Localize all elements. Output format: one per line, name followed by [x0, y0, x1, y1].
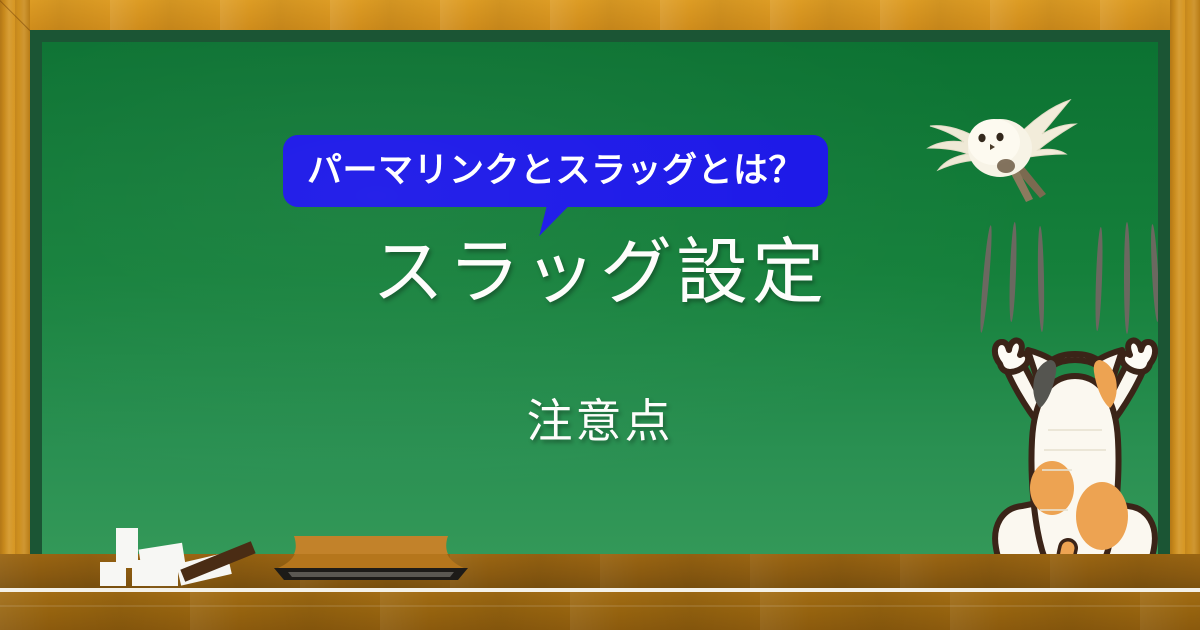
speech-bubble: パーマリンクとスラッグとは？	[283, 135, 828, 207]
cat-orange-patch-right	[1076, 482, 1128, 550]
chalkboard-surface: パーマリンクとスラッグとは？ スラッグ設定 注意点	[42, 42, 1158, 554]
speech-bubble-tail	[539, 206, 568, 236]
flying-white-bird	[920, 80, 1080, 210]
chalk-ledge-front	[0, 592, 1200, 630]
scratch-mark	[1149, 224, 1158, 322]
page-subtitle: 注意点	[84, 398, 1116, 444]
blackboard-eraser	[258, 534, 484, 590]
frame-top-rail	[0, 0, 1200, 30]
speech-bubble-text: パーマリンクとスラッグとは？	[307, 153, 804, 188]
chalk-stick	[100, 562, 126, 586]
blackboard-thumbnail: パーマリンクとスラッグとは？ スラッグ設定 注意点	[0, 0, 1200, 630]
frame-right-rail	[1170, 0, 1200, 630]
page-title: スラッグ設定	[84, 237, 1116, 309]
frame-left-rail	[0, 0, 30, 630]
